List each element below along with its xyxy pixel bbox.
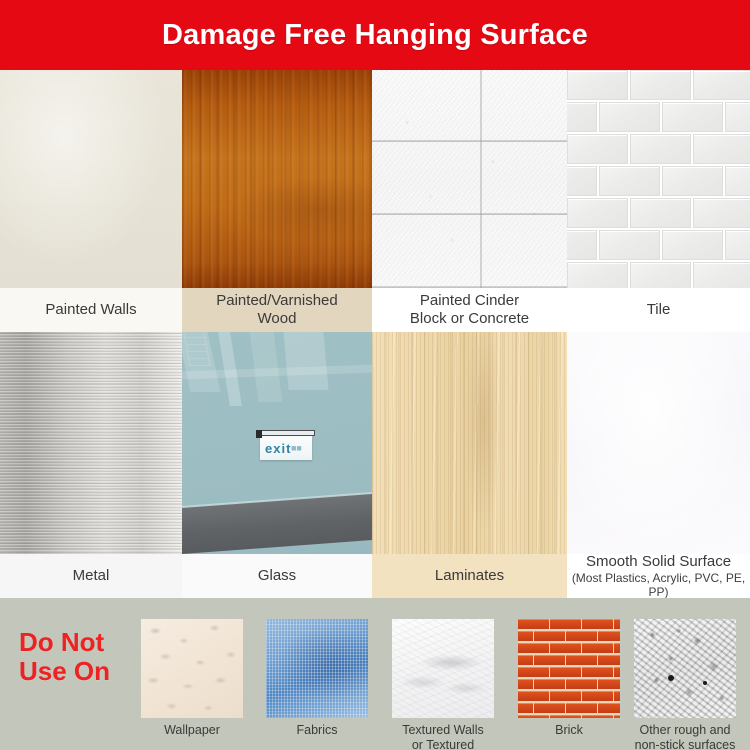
brick: [518, 631, 533, 641]
brick: [518, 703, 533, 713]
brick: [566, 679, 597, 689]
brick: [582, 691, 613, 701]
surface-hole: [703, 681, 707, 685]
brick: [518, 643, 549, 653]
tile: [599, 102, 660, 132]
tile: [693, 70, 750, 100]
brick: [598, 703, 620, 713]
surface-caption-laminates: Laminates: [372, 554, 567, 598]
do-not-use-item-textured-walls[interactable]: Textured Walls or Textured Surfaces: [392, 619, 494, 750]
brick-row: [518, 631, 620, 643]
surface-caption-painted-varnished-wood: Painted/Varnished Wood: [182, 288, 372, 332]
brick-row: [518, 679, 620, 691]
rough-surface-texture: [634, 619, 736, 718]
surface-label: Tile: [647, 301, 671, 319]
brick: [566, 703, 597, 713]
brick: [582, 715, 613, 718]
tile-row: [567, 198, 750, 230]
glass-panel-texture: exit ■■: [182, 332, 372, 554]
brick: [550, 619, 581, 629]
caption-line1: Brick: [518, 723, 620, 738]
textured-wall-texture: [392, 619, 494, 718]
brick: [518, 655, 533, 665]
surface-label-line2: Wood: [258, 310, 297, 328]
tile: [630, 70, 691, 100]
subway-tile-texture: [567, 70, 750, 288]
tile: [567, 70, 628, 100]
tile: [599, 230, 660, 260]
do-not-use-title: Do Not Use On: [19, 628, 110, 687]
glass-reflection: [283, 332, 328, 390]
surface-grid: Painted Walls Painted/Varnished Wood Pai…: [0, 70, 750, 598]
do-not-use-item-wallpaper[interactable]: Wallpaper: [141, 619, 243, 738]
brushed-metal-texture: [0, 332, 182, 554]
surface-label: Smooth Solid Surface: [586, 553, 731, 571]
brick: [550, 643, 581, 653]
do-not-use-item-brick[interactable]: Brick: [518, 619, 620, 738]
tile: [693, 262, 750, 288]
brick: [614, 691, 620, 701]
brick: [566, 655, 597, 665]
surface-cell-laminates[interactable]: Laminates: [372, 332, 567, 598]
tile: [567, 230, 597, 260]
surface-caption-metal: Metal: [0, 554, 182, 598]
glass-reflection: [182, 332, 220, 392]
brick: [614, 619, 620, 629]
brick-row: [518, 715, 620, 718]
do-not-use-caption-textured-walls: Textured Walls or Textured Surfaces: [392, 723, 494, 750]
wallpaper-texture: [141, 619, 243, 718]
tile: [567, 166, 597, 196]
surface-caption-smooth-solid-surface: Smooth Solid Surface (Most Plastics, Acr…: [567, 554, 750, 598]
do-not-use-title-line1: Do Not: [19, 628, 110, 657]
caption-line2: non-stick surfaces: [634, 738, 736, 750]
tile: [567, 102, 597, 132]
brick: [518, 619, 549, 629]
tile: [567, 134, 628, 164]
caption-line2: or Textured Surfaces: [392, 738, 494, 750]
do-not-use-caption-brick: Brick: [518, 723, 620, 738]
sign-bracket-icon: [257, 430, 315, 436]
smooth-solid-surface-texture: [567, 332, 750, 554]
caption-line1: Wallpaper: [141, 723, 243, 738]
brick-texture: [518, 619, 620, 718]
sign-subtext: ■■: [291, 443, 302, 453]
brick-row: [518, 643, 620, 655]
surface-cell-tile[interactable]: Tile: [567, 70, 750, 332]
surface-sublabel: (Most Plastics, Acrylic, PVC, PE, PP): [567, 571, 750, 598]
brick: [534, 679, 565, 689]
surface-label-line2: Block or Concrete: [410, 310, 529, 328]
tile: [662, 102, 723, 132]
brick: [566, 631, 597, 641]
brick: [598, 679, 620, 689]
tile: [567, 262, 628, 288]
page-title: Damage Free Hanging Surface: [162, 19, 588, 52]
tile: [725, 102, 750, 132]
caption-line1: Fabrics: [266, 723, 368, 738]
brick: [582, 619, 613, 629]
do-not-use-caption-wallpaper: Wallpaper: [141, 723, 243, 738]
brick-row: [518, 667, 620, 679]
brick: [518, 691, 549, 701]
tile: [693, 198, 750, 228]
caption-line1: Other rough and: [634, 723, 736, 738]
surface-cell-metal[interactable]: Metal: [0, 332, 182, 598]
do-not-use-item-fabrics[interactable]: Fabrics: [266, 619, 368, 738]
cinder-block-texture: [372, 70, 567, 288]
tile: [567, 198, 628, 228]
tile-row: [567, 262, 750, 288]
header-banner: Damage Free Hanging Surface: [0, 0, 750, 70]
do-not-use-caption-fabrics: Fabrics: [266, 723, 368, 738]
tile: [630, 198, 691, 228]
tile: [630, 262, 691, 288]
brick: [534, 655, 565, 665]
brick: [614, 643, 620, 653]
brick-row: [518, 703, 620, 715]
surface-cell-painted-varnished-wood[interactable]: Painted/Varnished Wood: [182, 70, 372, 332]
tile-row: [567, 230, 750, 262]
brick: [614, 667, 620, 677]
wall-sign: exit ■■: [260, 436, 312, 460]
do-not-use-title-line2: Use On: [19, 657, 110, 686]
surface-caption-painted-walls: Painted Walls: [0, 288, 182, 332]
brick: [598, 655, 620, 665]
surface-label: Painted Walls: [45, 301, 136, 319]
brick: [582, 643, 613, 653]
tile: [725, 166, 750, 196]
varnished-wood-texture: [182, 70, 372, 288]
tile: [662, 166, 723, 196]
caption-line1: Textured Walls: [392, 723, 494, 738]
infographic-page: Damage Free Hanging Surface Painted Wall…: [0, 0, 750, 750]
tile: [662, 230, 723, 260]
brick: [534, 631, 565, 641]
surface-caption-glass: Glass: [182, 554, 372, 598]
brick: [550, 691, 581, 701]
surface-cell-painted-cinder-block[interactable]: Painted Cinder Block or Concrete: [372, 70, 567, 332]
brick: [550, 667, 581, 677]
tile: [630, 134, 691, 164]
surface-cell-painted-walls[interactable]: Painted Walls: [0, 70, 182, 332]
brick: [518, 679, 533, 689]
tile-row: [567, 102, 750, 134]
tile-row: [567, 70, 750, 102]
surface-cell-glass[interactable]: exit ■■ Glass: [182, 332, 372, 598]
surface-hole: [668, 675, 674, 681]
brick: [598, 631, 620, 641]
brick-row: [518, 619, 620, 631]
brick-row: [518, 691, 620, 703]
tile: [599, 166, 660, 196]
surface-label-line1: Painted/Varnished: [216, 292, 337, 310]
brick: [518, 715, 549, 718]
brick: [550, 715, 581, 718]
surface-caption-tile: Tile: [567, 288, 750, 332]
do-not-use-caption-rough-surfaces: Other rough and non-stick surfaces: [634, 723, 736, 750]
brick: [518, 667, 549, 677]
tile: [725, 230, 750, 260]
brick: [614, 715, 620, 718]
surface-cell-smooth-solid-surface[interactable]: Smooth Solid Surface (Most Plastics, Acr…: [567, 332, 750, 598]
do-not-use-item-rough-surfaces[interactable]: Other rough and non-stick surfaces: [634, 619, 736, 750]
brick: [582, 667, 613, 677]
do-not-use-section: Do Not Use On Wallpaper Fabrics Textured…: [0, 598, 750, 750]
brick-row: [518, 655, 620, 667]
surface-label: Metal: [73, 567, 110, 585]
tile: [693, 134, 750, 164]
surface-label: Glass: [258, 567, 296, 585]
surface-caption-painted-cinder-block: Painted Cinder Block or Concrete: [372, 288, 567, 332]
tile-row: [567, 166, 750, 198]
painted-wall-texture: [0, 70, 182, 288]
surface-label: Laminates: [435, 567, 504, 585]
sign-text: exit: [265, 441, 291, 456]
fabric-denim-texture: [266, 619, 368, 718]
surface-label-line1: Painted Cinder: [420, 292, 519, 310]
laminate-wood-texture: [372, 332, 567, 554]
brick: [534, 703, 565, 713]
tile-row: [567, 134, 750, 166]
